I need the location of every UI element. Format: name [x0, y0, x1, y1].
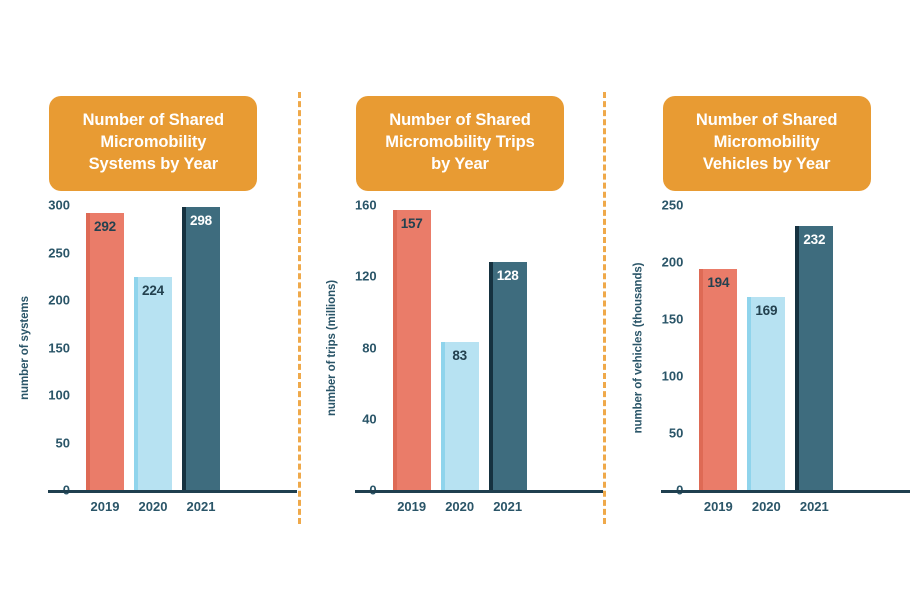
y-tick-label: 150 [662, 312, 684, 327]
y-tick-label: 50 [669, 426, 683, 441]
chart-figure: Number of Shared Micromobility Systems b… [0, 0, 920, 613]
bar-value-label: 194 [699, 275, 737, 290]
panel-title-vehicles: Number of Shared Micromobility Vehicles … [663, 96, 871, 191]
x-tick-label: 2019 [694, 499, 742, 514]
x-tick-label: 2019 [388, 499, 436, 514]
chart-panel-vehicles: Number of Shared Micromobility Vehicles … [613, 0, 920, 613]
panel-title-line: Micromobility [59, 132, 247, 154]
bar-value-label: 128 [489, 268, 527, 283]
y-axis-ticks-vehicles: 050100150200250 [647, 205, 683, 490]
bar-2020[interactable]: 224 [134, 277, 172, 490]
panel-title-line: Micromobility Trips [366, 132, 554, 154]
x-axis-ticks-trips: 201920202021 [383, 499, 604, 523]
y-tick-label: 80 [362, 340, 376, 355]
x-axis-line-vehicles [661, 490, 910, 493]
bar-2021[interactable]: 298 [182, 207, 220, 490]
y-tick-label: 200 [48, 293, 70, 308]
y-tick-label: 200 [662, 255, 684, 270]
y-axis-label-systems: number of systems [16, 205, 34, 490]
y-tick-label: 300 [48, 198, 70, 213]
chart-panel-systems: Number of Shared Micromobility Systems b… [0, 0, 307, 613]
panel-title-line: Number of Shared [673, 110, 861, 132]
y-axis-ticks-systems: 050100150200250300 [34, 205, 70, 490]
bar-value-label: 224 [134, 283, 172, 298]
panel-title-line: Vehicles by Year [673, 154, 861, 176]
bars-systems: 292224298 [76, 205, 297, 490]
panel-title-line: Systems by Year [59, 154, 247, 176]
y-tick-label: 250 [662, 198, 684, 213]
y-axis-label-trips: number of trips (millions) [323, 205, 341, 490]
x-axis-line-trips [355, 490, 604, 493]
bar-value-label: 169 [747, 303, 785, 318]
x-axis-ticks-vehicles: 201920202021 [689, 499, 910, 523]
x-tick-label: 2020 [129, 499, 177, 514]
x-tick-label: 2019 [81, 499, 129, 514]
bars-trips: 15783128 [383, 205, 604, 490]
plot-area-vehicles: number of vehicles (thousands) 050100150… [613, 205, 920, 525]
plot-area-systems: number of systems 050100150200250300 292… [0, 205, 307, 525]
bar-2021[interactable]: 128 [489, 262, 527, 490]
x-tick-label: 2020 [742, 499, 790, 514]
x-axis-ticks-systems: 201920202021 [76, 499, 297, 523]
bar-value-label: 298 [182, 213, 220, 228]
chart-panel-trips: Number of Shared Micromobility Trips by … [307, 0, 614, 613]
bars-vehicles: 194169232 [689, 205, 910, 490]
x-tick-label: 2021 [177, 499, 225, 514]
y-tick-label: 160 [355, 198, 377, 213]
panel-title-line: Number of Shared [59, 110, 247, 132]
panel-title-systems: Number of Shared Micromobility Systems b… [49, 96, 257, 191]
y-tick-label: 50 [56, 435, 70, 450]
panel-title-trips: Number of Shared Micromobility Trips by … [356, 96, 564, 191]
y-tick-label: 100 [48, 388, 70, 403]
y-tick-label: 100 [662, 369, 684, 384]
panel-title-line: Number of Shared [366, 110, 554, 132]
y-tick-label: 120 [355, 269, 377, 284]
bar-2019[interactable]: 194 [699, 269, 737, 490]
y-tick-label: 250 [48, 245, 70, 260]
panel-title-line: Micromobility [673, 132, 861, 154]
y-axis-ticks-trips: 04080120160 [341, 205, 377, 490]
bar-value-label: 83 [441, 348, 479, 363]
y-tick-label: 40 [362, 411, 376, 426]
panel-title-line: by Year [366, 154, 554, 176]
bar-value-label: 292 [86, 219, 124, 234]
x-tick-label: 2020 [436, 499, 484, 514]
panel-divider-1 [298, 92, 301, 524]
bar-value-label: 232 [795, 232, 833, 247]
bar-2019[interactable]: 157 [393, 210, 431, 490]
x-tick-label: 2021 [790, 499, 838, 514]
bar-value-label: 157 [393, 216, 431, 231]
bar-2020[interactable]: 83 [441, 342, 479, 490]
x-tick-label: 2021 [484, 499, 532, 514]
x-axis-line-systems [48, 490, 297, 493]
y-axis-label-vehicles: number of vehicles (thousands) [629, 205, 647, 490]
bar-2019[interactable]: 292 [86, 213, 124, 490]
plot-area-trips: number of trips (millions) 04080120160 1… [307, 205, 614, 525]
y-tick-label: 150 [48, 340, 70, 355]
bar-2021[interactable]: 232 [795, 226, 833, 490]
panel-divider-2 [603, 92, 606, 524]
bar-2020[interactable]: 169 [747, 297, 785, 490]
